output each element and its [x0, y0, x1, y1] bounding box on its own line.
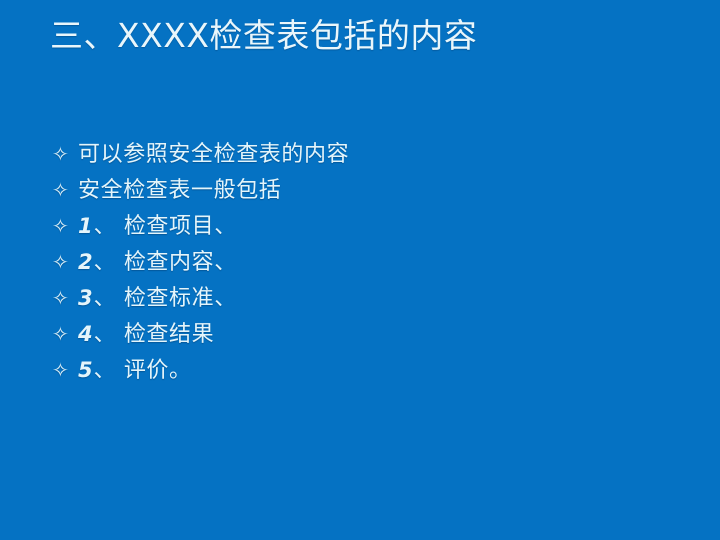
list-item-text: 、 检查项目、: [94, 214, 237, 239]
list-item: ✧ 可以参照安全检查表的内容: [52, 136, 672, 172]
list-item-label: 4、 检查结果: [78, 316, 214, 353]
list-item: ✧ 安全检查表一般包括: [52, 172, 672, 208]
slide-bullet-list: ✧ 可以参照安全检查表的内容 ✧ 安全检查表一般包括 ✧ 1、 检查项目、 ✧ …: [52, 136, 672, 388]
list-item-number: 4: [78, 322, 94, 346]
list-item: ✧ 2、 检查内容、: [52, 244, 672, 280]
list-item-text: 、 评价。: [94, 358, 192, 383]
diamond-bullet-icon: ✧: [52, 244, 78, 280]
diamond-bullet-icon: ✧: [52, 280, 78, 316]
slide-title-block: 三、XXXX检查表包括的内容: [50, 14, 670, 66]
list-item: ✧ 1、 检查项目、: [52, 208, 672, 244]
list-item-number: 2: [78, 250, 94, 274]
list-item-number: 1: [78, 214, 94, 238]
list-item: ✧ 5、 评价。: [52, 352, 672, 388]
list-item-text: 、 检查结果: [94, 322, 215, 347]
list-item-label: 5、 评价。: [78, 352, 192, 389]
list-item-label: 1、 检查项目、: [78, 208, 237, 245]
list-item-number: 5: [78, 358, 94, 382]
list-item-label: 可以参照安全检查表的内容: [78, 137, 349, 173]
list-item-text: 、 检查标准、: [94, 286, 237, 311]
list-item-label: 安全检查表一般包括: [78, 173, 281, 209]
diamond-bullet-icon: ✧: [52, 172, 78, 208]
list-item-number: 3: [78, 286, 94, 310]
list-item: ✧ 4、 检查结果: [52, 316, 672, 352]
list-item-label: 3、 检查标准、: [78, 280, 237, 317]
diamond-bullet-icon: ✧: [52, 208, 78, 244]
page-title: 三、XXXX检查表包括的内容: [50, 14, 670, 58]
list-item-label: 2、 检查内容、: [78, 244, 237, 281]
diamond-bullet-icon: ✧: [52, 352, 78, 388]
list-item: ✧ 3、 检查标准、: [52, 280, 672, 316]
list-item-text: 、 检查内容、: [94, 250, 237, 275]
diamond-bullet-icon: ✧: [52, 136, 78, 172]
presentation-slide: 三、XXXX检查表包括的内容 ✧ 可以参照安全检查表的内容 ✧ 安全检查表一般包…: [0, 0, 720, 540]
diamond-bullet-icon: ✧: [52, 316, 78, 352]
